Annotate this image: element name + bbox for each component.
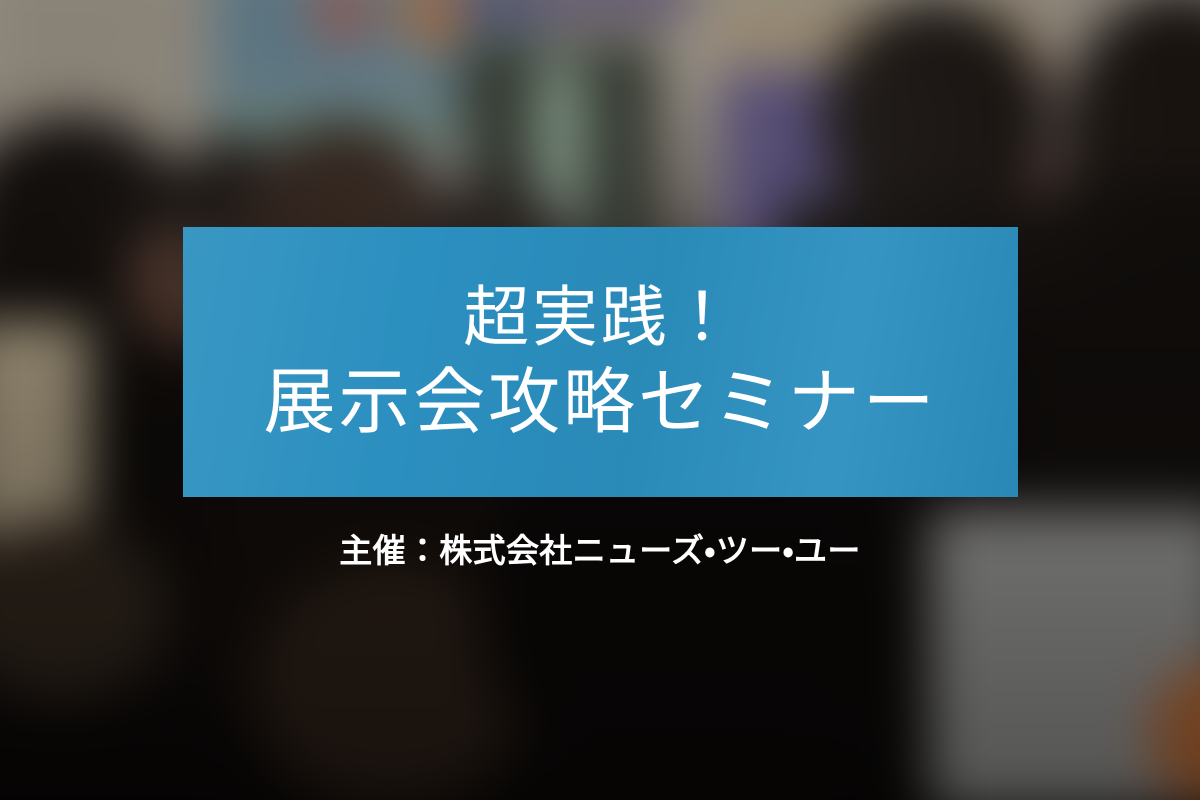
title-line-1: 超実践！ [463,283,738,352]
title-banner: 超実践！ 展示会攻略セミナー [183,227,1018,497]
title-card: 超実践！ 展示会攻略セミナー 主催：株式会社ニューズ・ツー・ユー [0,0,1200,800]
banner-sheen-overlay [183,227,1018,497]
title-line-2: 展示会攻略セミナー [264,366,938,442]
organizer-subtitle: 主催：株式会社ニューズ・ツー・ユー [0,524,1200,572]
